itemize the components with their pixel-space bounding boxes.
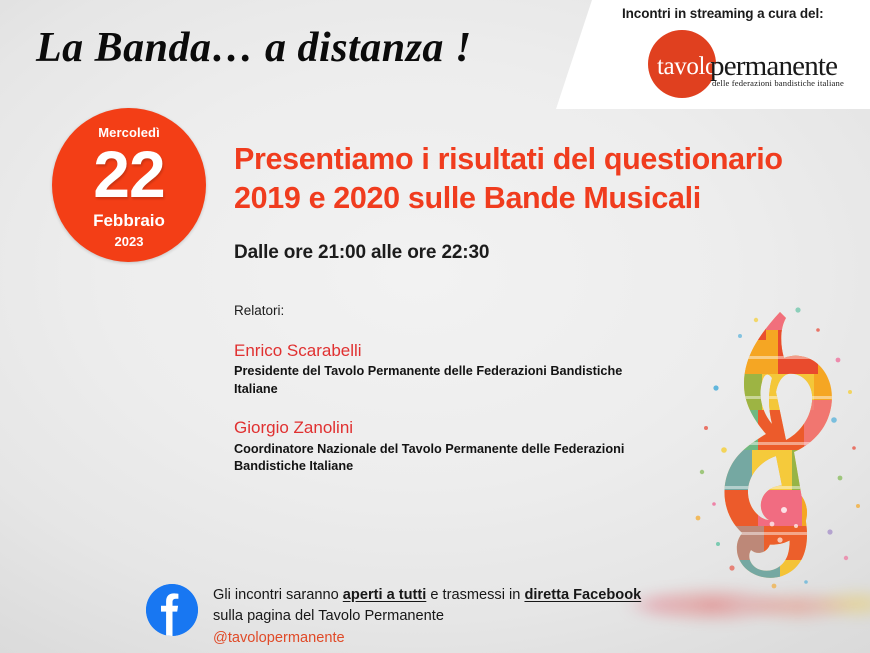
logo-word-tavolo: tavolo: [657, 54, 717, 79]
brand-script-title: La Banda… a distanza !: [36, 24, 472, 72]
footer-emphasis-diretta-facebook: diretta Facebook: [524, 587, 641, 603]
speaker-role: Presidente del Tavolo Permanente delle F…: [234, 363, 634, 398]
footer-text: Gli incontri saranno aperti a tutti e tr…: [213, 585, 733, 649]
date-badge: Mercoledì 22 Febbraio 2023: [52, 108, 206, 262]
speaker-item: Enrico Scarabelli Presidente del Tavolo …: [234, 340, 664, 398]
footer-emphasis-aperti: aperti a tutti: [343, 587, 427, 603]
page-title: Presentiamo i risultati del questionario…: [234, 140, 870, 218]
speaker-item: Giorgio Zanolini Coordinatore Nazionale …: [234, 417, 664, 475]
streaming-kicker: Incontri in streaming a cura del:: [622, 6, 870, 21]
speakers-section: Relatori: Enrico Scarabelli Presidente d…: [234, 303, 664, 495]
logo-subtitle: delle federazioni bandistiche italiane: [712, 79, 844, 88]
event-time: Dalle ore 21:00 alle ore 22:30: [234, 242, 489, 264]
date-day: 22: [52, 141, 206, 207]
footer-line-1-c: e trasmessi in: [426, 587, 524, 603]
confetti-dots: [696, 307, 860, 588]
logo-word-permanente: permanente: [710, 52, 837, 81]
footer-line-1-a: Gli incontri saranno: [213, 587, 343, 603]
date-month: Febbraio: [52, 211, 206, 231]
poster-canvas: Incontri in streaming a cura del: tavolo…: [0, 0, 870, 653]
speakers-label: Relatori:: [234, 303, 664, 318]
facebook-icon[interactable]: [146, 584, 198, 636]
facebook-handle[interactable]: @tavolopermanente: [213, 628, 733, 649]
tavolo-permanente-logo: tavolo permanente delle federazioni band…: [648, 28, 860, 100]
page-title-line-1: Presentiamo i risultati del questionario: [234, 140, 870, 179]
treble-clef-icon: [688, 300, 870, 596]
speaker-role: Coordinatore Nazionale del Tavolo Perman…: [234, 441, 634, 476]
footer-line-2: sulla pagina del Tavolo Permanente: [213, 606, 733, 627]
speaker-name: Enrico Scarabelli: [234, 340, 664, 361]
date-year: 2023: [52, 234, 206, 249]
footer-line-1: Gli incontri saranno aperti a tutti e tr…: [213, 585, 733, 606]
speaker-name: Giorgio Zanolini: [234, 417, 664, 438]
page-title-line-2: 2019 e 2020 sulle Bande Musicali: [234, 179, 870, 218]
